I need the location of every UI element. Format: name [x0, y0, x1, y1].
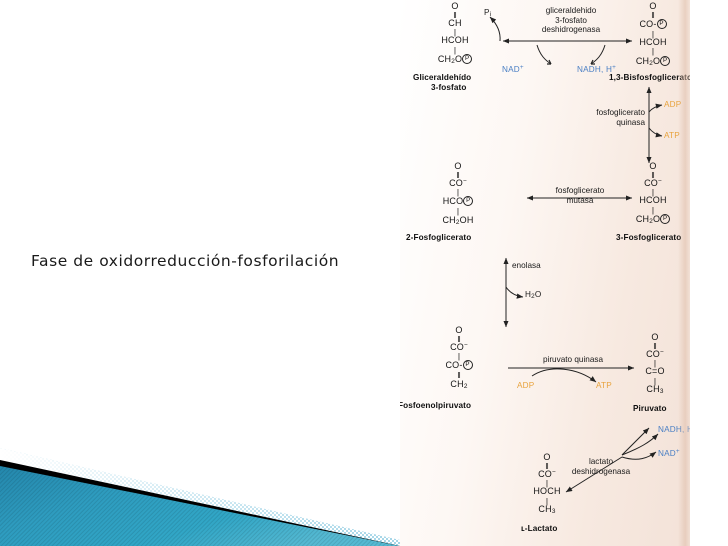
cofactor-adp-1: ADP — [664, 100, 681, 109]
structure-3pg: O‖ CO−| HCOH| CH2OP — [622, 162, 684, 225]
structure-g3p: O‖ CH| HCOH| CH2OP — [418, 2, 492, 65]
enzyme-pk: piruvato quinasa — [522, 355, 624, 365]
cofactor-adp-2: ADP — [517, 381, 534, 390]
label-g3p-line2: 3-fosfato — [431, 83, 466, 92]
slide-canvas: Fase de oxidorreducción-fosforilación — [0, 0, 728, 546]
label-pyruvate: Piruvato — [633, 404, 667, 413]
cofactor-atp-2: ATP — [596, 381, 612, 390]
cofactor-nad-plus-1: NAD+ — [502, 64, 524, 74]
cofactor-pi: Pi — [484, 8, 491, 18]
structure-pep: O‖ CO−| CO-P‖ CH2 — [426, 326, 492, 390]
enzyme-pgm: fosfoglicerato mutasa — [532, 186, 628, 205]
cofactor-atp-1: ATP — [664, 131, 680, 140]
label-bpg: 1,3-Bisfosfoglicerato — [609, 73, 690, 82]
structure-2pg: O‖ CO−| HCOP| CH2OH — [422, 162, 494, 226]
structure-bpg: O‖ CO-P| HCOH| CH2OP — [622, 2, 684, 67]
label-2pg: 2-Fosfoglicerato — [406, 233, 471, 242]
cofactor-nadh-2: NADH, H+ — [658, 424, 690, 434]
enzyme-enolase: enolasa — [512, 261, 566, 271]
label-3pg: 3-Fosfoglicerato — [616, 233, 681, 242]
cofactor-water: H2O — [525, 290, 541, 300]
label-g3p: Gliceraldehído — [413, 73, 471, 82]
page-title: Fase de oxidorreducción-fosforilación — [31, 252, 339, 270]
decorative-corner-banner — [0, 436, 400, 546]
label-pep: Fosfoenolpiruvato — [400, 401, 471, 410]
cofactor-nad-plus-2: NAD+ — [658, 448, 680, 458]
cofactor-nadh-1: NADH, H+ — [577, 64, 616, 74]
enzyme-pgk: fosfoglicerato quinasa — [565, 108, 645, 127]
structure-pyruvate: O‖ CO−| C=O| CH3 — [627, 333, 683, 395]
label-lactate: ʟ-Lactato — [521, 524, 557, 533]
enzyme-gapdh: gliceraldehido 3-fosfato deshidrogenasa — [515, 6, 627, 35]
structure-lactate: O‖ CO−| HOCH| CH3 — [516, 453, 578, 515]
glycolysis-figure: O‖ CH| HCOH| CH2OP Gliceraldehído 3-fosf… — [400, 0, 690, 546]
